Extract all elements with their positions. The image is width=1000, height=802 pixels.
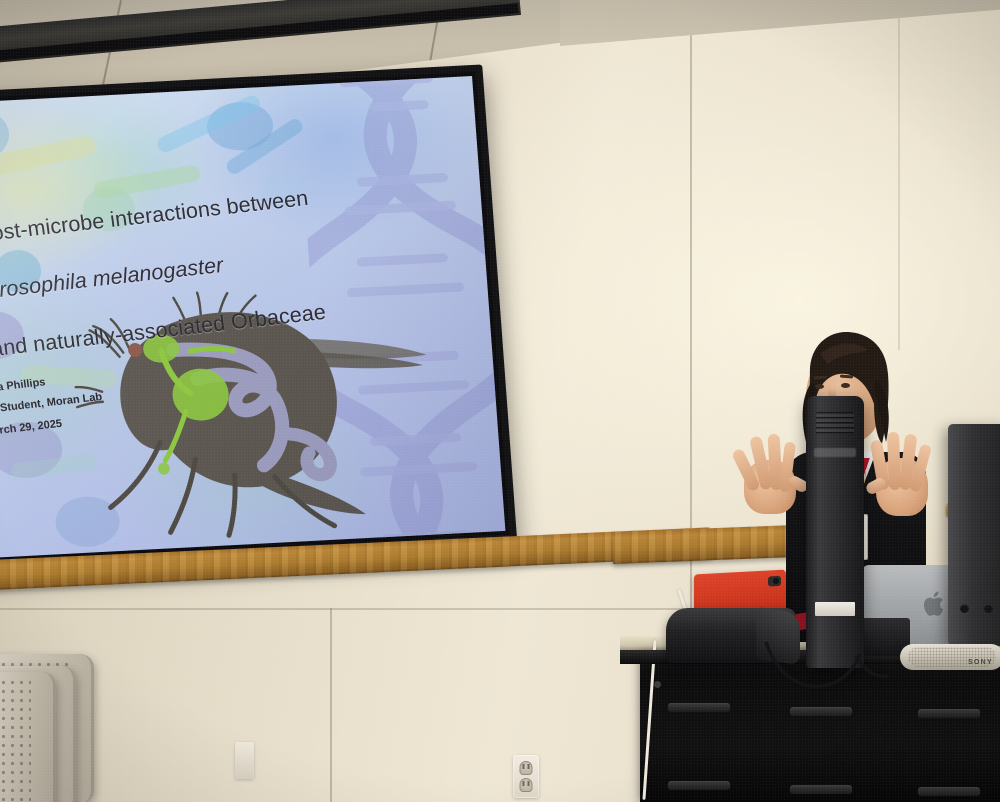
wall-panel-seam <box>898 0 900 350</box>
secondary-monitor[interactable] <box>948 424 1000 646</box>
drawer-pull[interactable] <box>918 709 980 718</box>
slide-title-line-2: Drosophila melanogaster <box>0 253 225 304</box>
lecture-room-photo: Host-microbe interactions between Drosop… <box>0 0 1000 802</box>
presenter-right-hand <box>860 424 942 524</box>
wall-panel-seam <box>330 608 332 802</box>
drawer-pull[interactable] <box>668 703 730 712</box>
presenter-eye <box>841 383 850 388</box>
purifier-brand-logo <box>814 448 856 457</box>
apple-logo-icon <box>922 589 948 619</box>
sony-brand-label: SONY <box>968 659 993 666</box>
tablet-camera <box>768 576 781 587</box>
presenter-eye <box>815 384 824 389</box>
wall-panel-seam <box>0 608 700 610</box>
drawer-pull[interactable] <box>790 707 852 716</box>
equipment-cables <box>760 640 940 700</box>
stacked-folding-tables <box>0 650 120 802</box>
drawer-pull[interactable] <box>790 785 852 794</box>
podium-lock[interactable] <box>654 681 661 688</box>
presentation-screen[interactable]: Host-microbe interactions between Drosop… <box>0 65 517 570</box>
slide: Host-microbe interactions between Drosop… <box>0 76 505 558</box>
blank-wall-plate <box>235 742 254 779</box>
purifier-asset-label <box>815 602 855 616</box>
folding-table <box>0 672 56 802</box>
drawer-pull[interactable] <box>918 787 980 796</box>
purifier-vents <box>816 412 854 434</box>
electrical-outlet <box>513 755 539 798</box>
drawer-pull[interactable] <box>668 781 730 790</box>
monitor-ports <box>960 604 998 614</box>
slide-title-line-1: Host-microbe interactions between <box>0 186 310 247</box>
presenter-left-hand <box>734 426 810 518</box>
air-purifier[interactable] <box>806 396 864 668</box>
